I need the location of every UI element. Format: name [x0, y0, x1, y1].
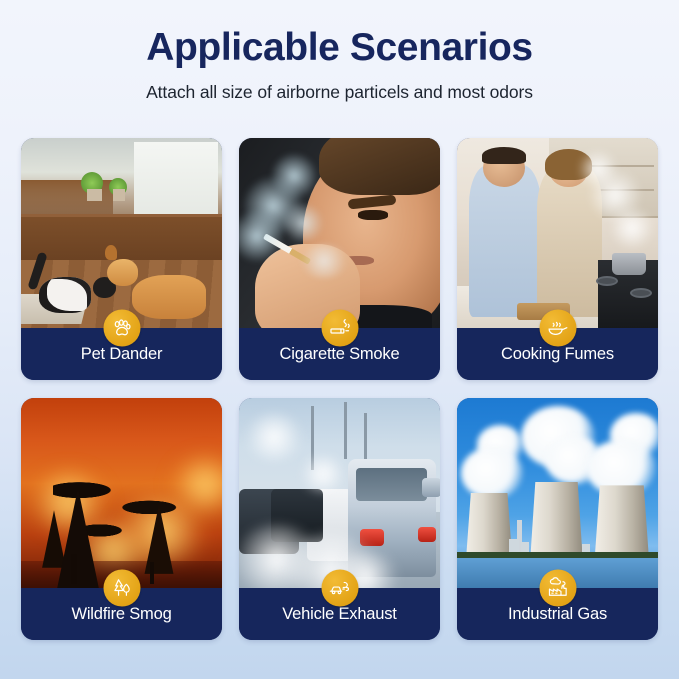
car-exhaust-icon	[321, 570, 358, 607]
scenario-card-pet-dander[interactable]: Pet Dander	[21, 138, 222, 380]
page-header: Applicable Scenarios Attach all size of …	[0, 0, 679, 103]
exhaust-cloud-shape	[243, 413, 305, 461]
side-mirror-shape	[422, 478, 440, 497]
burning-trees-icon	[103, 570, 140, 607]
exhaust-cloud-shape	[299, 455, 347, 493]
tree-silhouette-shape	[57, 488, 100, 588]
cat-body-shape	[39, 277, 91, 313]
card-image-cooking-fumes	[457, 138, 658, 328]
scenario-card-wildfire-smog[interactable]: Wildfire Smog	[21, 398, 222, 640]
dog-ear-shape	[105, 245, 117, 260]
cigarette-icon	[321, 310, 358, 347]
card-image-pet-dander	[21, 138, 222, 328]
man-body-shape	[469, 165, 541, 317]
smoke-puff-shape	[271, 153, 317, 199]
tree-silhouette-shape	[144, 505, 173, 575]
sideboard-shape	[21, 214, 222, 263]
tree-trunk-shape	[71, 554, 77, 584]
scenario-card-grid: Pet Dander	[21, 138, 658, 640]
scene-power-plant-cooling-towers	[457, 398, 658, 588]
pot-shape	[612, 253, 646, 275]
frying-pan-steam-icon	[539, 310, 576, 347]
scene-man-smoking-cigarette	[239, 138, 440, 328]
steam-plume-shape	[461, 447, 523, 499]
eye-shape	[358, 210, 388, 220]
card-image-vehicle-exhaust	[239, 398, 440, 588]
scenario-card-vehicle-exhaust[interactable]: Vehicle Exhaust	[239, 398, 440, 640]
steam-puff-shape	[578, 149, 618, 189]
dog-head-shape	[107, 259, 138, 286]
pot-shape	[87, 189, 102, 201]
pot-shape	[113, 189, 125, 201]
dog-body-shape	[132, 275, 206, 319]
scene-forest-wildfire	[21, 398, 222, 588]
applicable-scenarios-page: Applicable Scenarios Attach all size of …	[0, 0, 679, 679]
card-image-wildfire-smog	[21, 398, 222, 588]
scenario-card-cigarette-smoke[interactable]: Cigarette Smoke	[239, 138, 440, 380]
scenario-card-cooking-fumes[interactable]: Cooking Fumes	[457, 138, 658, 380]
steam-puff-shape	[610, 206, 654, 250]
card-image-cigarette-smoke	[239, 138, 440, 328]
factory-smoke-icon	[539, 570, 576, 607]
page-subtitle: Attach all size of airborne particels an…	[0, 82, 679, 103]
card-image-industrial-gas	[457, 398, 658, 588]
burner-shape	[630, 288, 652, 298]
man-hair-shape	[482, 147, 526, 164]
paw-print-icon	[103, 310, 140, 347]
smoke-puff-shape	[283, 203, 323, 243]
light-pole-shape	[364, 413, 367, 462]
scene-traffic-jam-with-exhaust	[239, 398, 440, 588]
rear-window-shape	[356, 468, 427, 501]
light-pole-shape	[344, 402, 347, 459]
scene-couple-cooking-in-kitchen	[457, 138, 658, 328]
hair-shape	[319, 138, 440, 195]
scenario-card-industrial-gas[interactable]: Industrial Gas	[457, 398, 658, 640]
scene-cat-and-dog-in-living-room	[21, 138, 222, 328]
tree-trunk-shape	[150, 562, 154, 584]
tail-light-shape	[418, 527, 436, 542]
page-title: Applicable Scenarios	[0, 26, 679, 71]
